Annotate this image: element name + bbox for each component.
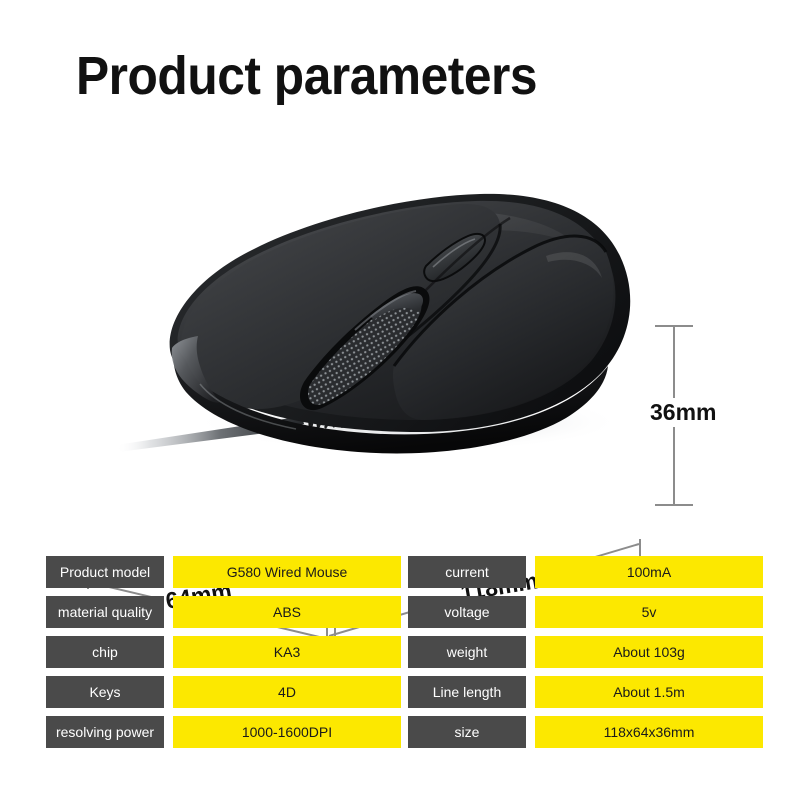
spec-row: voltage5v [408, 596, 763, 628]
spec-row: Keys4D [46, 676, 401, 708]
spec-value-cell: 4D [173, 676, 401, 708]
spec-value-cell: 118x64x36mm [535, 716, 763, 748]
spec-cell-gap [164, 596, 173, 628]
spec-key-cell: size [408, 716, 526, 748]
spec-key-cell: material quality [46, 596, 164, 628]
product-parameters-page: Product parameters [0, 0, 800, 800]
dimension-tick-height-top [655, 325, 693, 327]
spec-key-cell: Product model [46, 556, 164, 588]
spec-cell-gap [164, 676, 173, 708]
spec-column-right: current100mAvoltage5vweightAbout 103gLin… [408, 556, 763, 756]
spec-row: Line lengthAbout 1.5m [408, 676, 763, 708]
spec-row: resolving power1000-1600DPI [46, 716, 401, 748]
spec-key-cell: current [408, 556, 526, 588]
spec-row: current100mA [408, 556, 763, 588]
spec-cell-gap [526, 716, 535, 748]
spec-cell-gap [526, 556, 535, 588]
spec-row: Product modelG580 Wired Mouse [46, 556, 401, 588]
spec-cell-gap [526, 676, 535, 708]
spec-value-cell: ABS [173, 596, 401, 628]
spec-value-cell: G580 Wired Mouse [173, 556, 401, 588]
spec-cell-gap [164, 716, 173, 748]
spec-value-cell: 1000-1600DPI [173, 716, 401, 748]
page-title: Product parameters [76, 46, 537, 106]
spec-row: material qualityABS [46, 596, 401, 628]
spec-value-cell: 5v [535, 596, 763, 628]
dimension-label-height: 36mm [644, 398, 722, 427]
product-photo-stage: 36mm 118mm 64mm [0, 140, 800, 540]
spec-key-cell: voltage [408, 596, 526, 628]
spec-cell-gap [164, 636, 173, 668]
spec-value-cell: About 103g [535, 636, 763, 668]
spec-value-cell: About 1.5m [535, 676, 763, 708]
spec-row: size118x64x36mm [408, 716, 763, 748]
spec-key-cell: Keys [46, 676, 164, 708]
spec-cell-gap [526, 636, 535, 668]
spec-row: chipKA3 [46, 636, 401, 668]
spec-cell-gap [526, 596, 535, 628]
spec-row: weightAbout 103g [408, 636, 763, 668]
spec-key-cell: weight [408, 636, 526, 668]
spec-key-cell: Line length [408, 676, 526, 708]
spec-key-cell: chip [46, 636, 164, 668]
spec-cell-gap [164, 556, 173, 588]
spec-value-cell: 100mA [535, 556, 763, 588]
spec-column-left: Product modelG580 Wired Mousematerial qu… [46, 556, 401, 756]
mouse-illustration [108, 170, 648, 470]
spec-value-cell: KA3 [173, 636, 401, 668]
spec-key-cell: resolving power [46, 716, 164, 748]
dimension-tick-height-bottom [655, 504, 693, 506]
